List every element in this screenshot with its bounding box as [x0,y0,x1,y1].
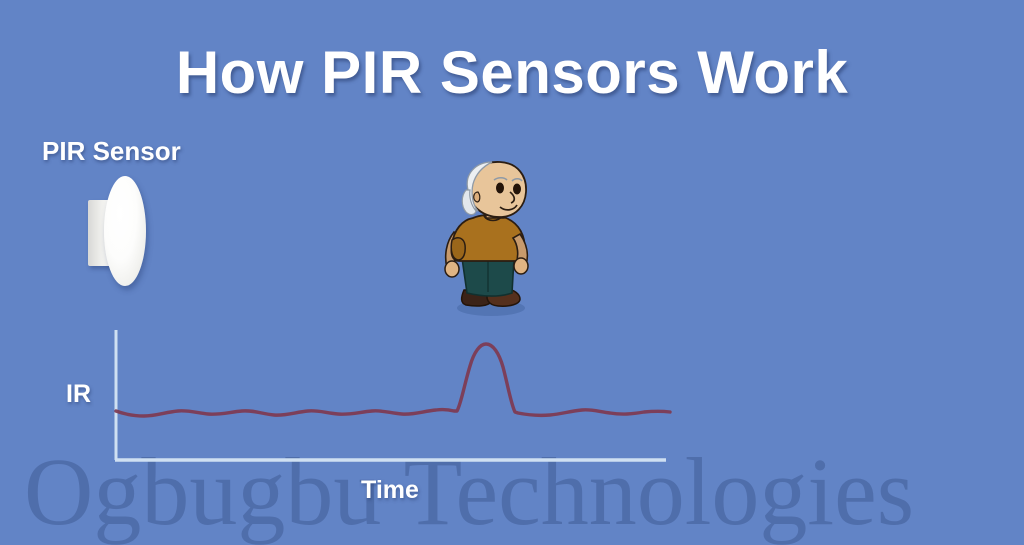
person-shirt-sleeve [451,238,465,260]
person-eye-left [496,183,504,194]
slide-canvas: Ogbugbu Technologies How PIR Sensors Wor… [0,0,1024,545]
ir-signal-chart [110,326,676,468]
pir-sensor-illustration [80,170,160,295]
person-ear [474,192,480,202]
person-hand-front [514,258,528,274]
ir-signal-trace [116,344,670,416]
person-hand-back [445,261,459,277]
chart-y-axis-label: IR [66,380,91,409]
person-eye-right [513,184,521,195]
pir-sensor-dome-icon [104,176,146,286]
pir-sensor-label: PIR Sensor [42,136,181,167]
page-title: How PIR Sensors Work [0,38,1024,107]
chart-x-axis-label: Time [0,476,780,505]
walking-person-illustration [428,160,544,318]
